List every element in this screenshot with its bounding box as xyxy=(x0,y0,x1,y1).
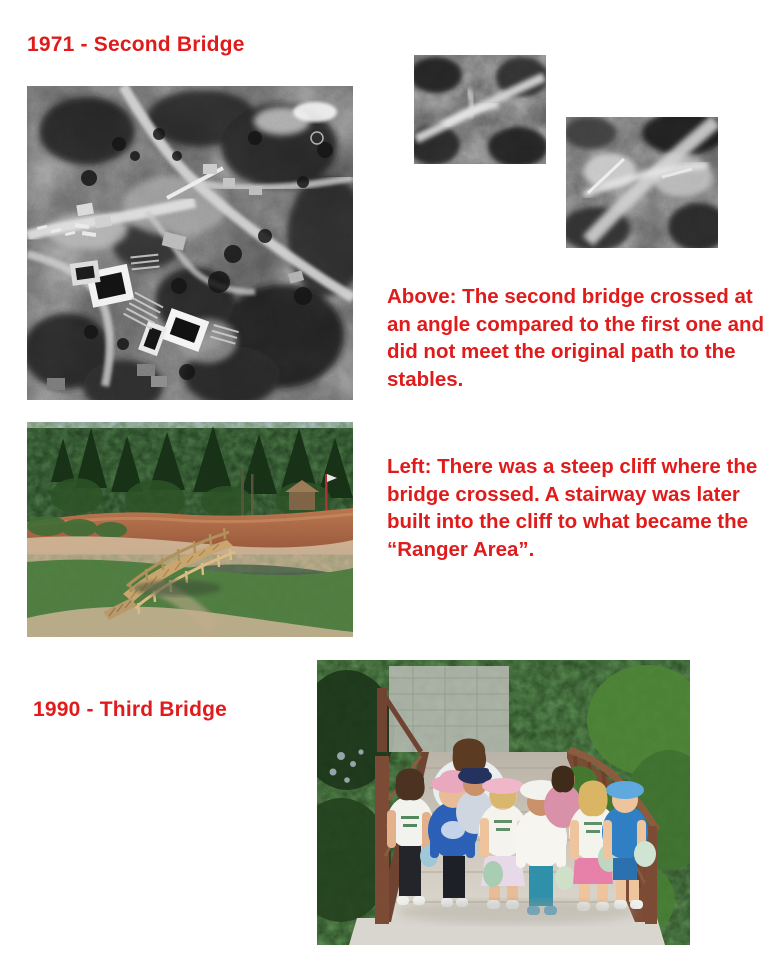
photo-aerial-main xyxy=(27,86,353,400)
aerial-main-graphic xyxy=(27,86,353,400)
aerial-inset-2-graphic xyxy=(566,117,718,248)
photo-aerial-inset-2 xyxy=(566,117,718,248)
photo-wooden-bridge xyxy=(27,422,353,637)
wooden-bridge-graphic xyxy=(27,422,353,637)
photo-aerial-inset-1 xyxy=(414,55,546,164)
photo-third-bridge xyxy=(317,660,690,945)
page-title-1971: 1971 - Second Bridge xyxy=(27,33,245,57)
aerial-inset-1-graphic xyxy=(414,55,546,164)
page-title-1990: 1990 - Third Bridge xyxy=(33,698,227,722)
caption-above-text: Above: The second bridge crossed at an a… xyxy=(387,283,767,393)
third-bridge-graphic xyxy=(317,660,690,945)
slide-canvas: 1971 - Second Bridge 1990 - Third Bridge xyxy=(0,0,768,960)
caption-left-text: Left: There was a steep cliff where the … xyxy=(387,453,767,563)
